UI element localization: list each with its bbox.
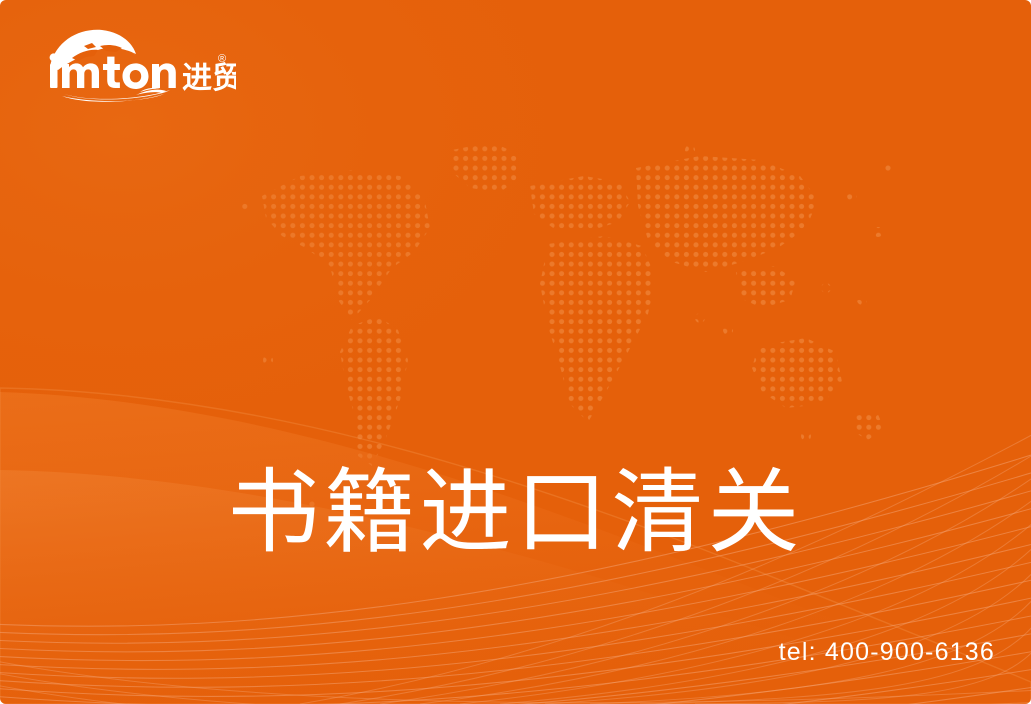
registered-trademark-icon: ® — [218, 54, 226, 65]
globe-swoosh-icon: 进贸通 — [36, 26, 236, 102]
poster-canvas: 进贸通 ® 书籍进口清关 代理公司 tel: 400-900-6136 — [0, 0, 1031, 704]
brand-logo[interactable]: 进贸通 ® — [36, 26, 236, 102]
title-line-1: 书籍进口清关 — [0, 456, 1031, 570]
contact-phone[interactable]: tel: 400-900-6136 — [779, 637, 995, 667]
logo-chinese-text: 进贸通 — [182, 61, 236, 96]
page-title: 书籍进口清关 代理公司 — [0, 228, 1031, 704]
